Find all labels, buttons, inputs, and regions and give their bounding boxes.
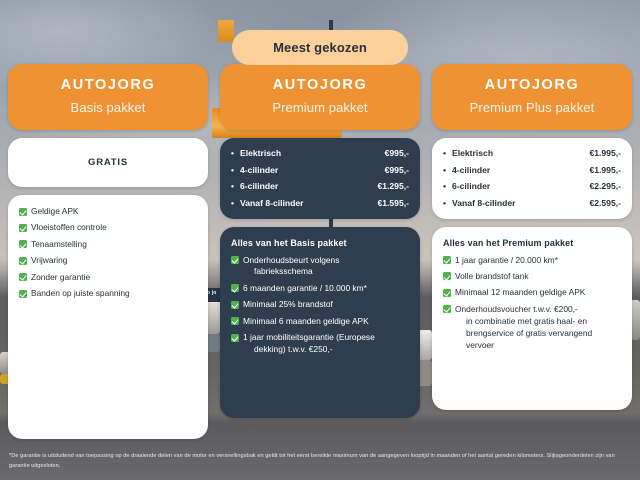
price-amount: €995,- bbox=[385, 165, 409, 175]
bullet-dot-icon: • bbox=[443, 198, 452, 208]
plan-price-list-premium-plus: • Elektrisch €1.995,- • 4-cilinder €1.99… bbox=[432, 138, 632, 219]
feature-item: 1 jaar garantie / 20.000 km* bbox=[443, 255, 621, 267]
plan-header-premium: AUTOJORG Premium pakket bbox=[220, 64, 420, 130]
bullet-dot-icon: • bbox=[443, 148, 452, 158]
price-row: • Vanaf 8-cilinder €1.595,- bbox=[231, 198, 409, 208]
feature-item: 6 maanden garantie / 10.000 km* bbox=[231, 283, 409, 295]
check-square-icon bbox=[443, 256, 451, 264]
feature-label: Vrijwaring bbox=[31, 255, 197, 267]
feature-line-2: dekking) t.w.v. €250,- bbox=[243, 344, 409, 356]
plan-features-panel-basis: Geldige APK Vloeistoffen controle Tenaam… bbox=[8, 195, 208, 439]
check-square-icon bbox=[231, 301, 239, 309]
feature-label: Volle brandstof tank bbox=[455, 271, 621, 283]
feature-label: 1 jaar garantie / 20.000 km* bbox=[455, 255, 621, 267]
price-label: Vanaf 8-cilinder bbox=[240, 198, 377, 208]
check-square-icon bbox=[231, 317, 239, 325]
price-row: • Elektrisch €1.995,- bbox=[443, 148, 621, 158]
feature-label: Minimaal 12 maanden geldige APK bbox=[455, 287, 621, 299]
price-amount: €2.595,- bbox=[567, 198, 621, 208]
plan-price-panel-premium-plus: • Elektrisch €1.995,- • 4-cilinder €1.99… bbox=[432, 138, 632, 219]
bullet-dot-icon: • bbox=[231, 181, 240, 191]
price-amount: €995,- bbox=[385, 148, 409, 158]
check-square-icon bbox=[19, 208, 27, 216]
feature-item: Onderhoudsbeurt volgens fabrieksschema bbox=[231, 255, 409, 279]
check-square-icon bbox=[443, 289, 451, 297]
bullet-dot-icon: • bbox=[443, 165, 452, 175]
price-label: Elektrisch bbox=[240, 148, 385, 158]
feature-label: Tenaamstelling bbox=[31, 239, 197, 251]
feature-item: 1 jaar mobiliteitsgarantie (Europese dek… bbox=[231, 332, 409, 356]
price-label: 6-cilinder bbox=[452, 181, 567, 191]
price-amount: €2.295,- bbox=[567, 181, 621, 191]
feature-label: Zonder garantie bbox=[31, 272, 197, 284]
feature-item: Minimaal 25% brandstof bbox=[231, 299, 409, 311]
feature-line-4: vervoer bbox=[455, 340, 621, 352]
plan-card-premium-plus[interactable]: AUTOJORG Premium Plus pakket • Elektrisc… bbox=[432, 64, 632, 410]
check-square-icon bbox=[19, 240, 27, 248]
feature-item: Volle brandstof tank bbox=[443, 271, 621, 283]
price-row: • 6-cilinder €2.295,- bbox=[443, 181, 621, 191]
price-label: Elektrisch bbox=[452, 148, 567, 158]
feature-label: Minimaal 6 maanden geldige APK bbox=[243, 316, 409, 328]
feature-label: Onderhoudsvoucher t.w.v. €200,- in combi… bbox=[455, 304, 621, 352]
price-row: • Vanaf 8-cilinder €2.595,- bbox=[443, 198, 621, 208]
price-label: Vanaf 8-cilinder bbox=[452, 198, 567, 208]
plan-features-basis: Geldige APK Vloeistoffen controle Tenaam… bbox=[8, 195, 208, 319]
feature-item: Onderhoudsvoucher t.w.v. €200,- in combi… bbox=[443, 304, 621, 352]
feature-line-1: Onderhoudsbeurt volgens bbox=[243, 255, 339, 265]
price-row: • 4-cilinder €1.995,- bbox=[443, 165, 621, 175]
check-square-icon bbox=[443, 305, 451, 313]
feature-label: Vloeistoffen controle bbox=[31, 222, 197, 234]
price-amount: €1.595,- bbox=[377, 198, 409, 208]
plan-features-premium: Alles van het Basis pakket Onderhoudsbeu… bbox=[220, 227, 420, 375]
feature-line-1: 1 jaar mobiliteitsgarantie (Europese bbox=[243, 332, 375, 342]
feature-line-2: in combinatie met gratis haal- en bbox=[455, 316, 621, 328]
check-square-icon bbox=[231, 256, 239, 264]
plan-name-premium: Premium pakket bbox=[230, 100, 410, 115]
plan-name-premium-plus: Premium Plus pakket bbox=[442, 100, 622, 115]
bullet-dot-icon: • bbox=[231, 198, 240, 208]
price-amount: €1.995,- bbox=[567, 165, 621, 175]
feature-item: Vloeistoffen controle bbox=[19, 222, 197, 234]
feature-item: Zonder garantie bbox=[19, 272, 197, 284]
warranty-footnote: *De garantie is uitsluitend van toepassi… bbox=[0, 445, 640, 480]
feature-label: 6 maanden garantie / 10.000 km* bbox=[243, 283, 409, 295]
feature-item: Vrijwaring bbox=[19, 255, 197, 267]
price-row: • 4-cilinder €995,- bbox=[231, 165, 409, 175]
price-row: • Elektrisch €995,- bbox=[231, 148, 409, 158]
price-label: 4-cilinder bbox=[240, 165, 385, 175]
check-square-icon bbox=[231, 284, 239, 292]
check-square-icon bbox=[19, 273, 27, 281]
plan-price-panel-basis: GRATIS bbox=[8, 138, 208, 187]
feature-label: Geldige APK bbox=[31, 206, 197, 218]
most-chosen-badge-label: Meest gekozen bbox=[273, 40, 367, 55]
plan-features-premium-plus: Alles van het Premium pakket 1 jaar gara… bbox=[432, 227, 632, 370]
feature-line-1: Onderhoudsvoucher t.w.v. €200,- bbox=[455, 304, 578, 314]
price-amount: €1.995,- bbox=[567, 148, 621, 158]
plan-card-premium[interactable]: AUTOJORG Premium pakket • Elektrisch €99… bbox=[220, 64, 420, 418]
most-chosen-badge: Meest gekozen bbox=[232, 30, 408, 65]
check-square-icon bbox=[19, 290, 27, 298]
feature-item: Geldige APK bbox=[19, 206, 197, 218]
price-amount: €1.295,- bbox=[377, 181, 409, 191]
plan-name-basis: Basis pakket bbox=[18, 100, 198, 115]
check-square-icon bbox=[231, 334, 239, 342]
bullet-dot-icon: • bbox=[231, 148, 240, 158]
plan-brand-basis: AUTOJORG bbox=[18, 77, 198, 93]
feature-item: Minimaal 6 maanden geldige APK bbox=[231, 316, 409, 328]
price-row: • 6-cilinder €1.295,- bbox=[231, 181, 409, 191]
check-square-icon bbox=[443, 272, 451, 280]
feature-item: Tenaamstelling bbox=[19, 239, 197, 251]
plan-features-panel-premium: Alles van het Basis pakket Onderhoudsbeu… bbox=[220, 227, 420, 419]
plan-header-premium-plus: AUTOJORG Premium Plus pakket bbox=[432, 64, 632, 130]
plan-header-basis: AUTOJORG Basis pakket bbox=[8, 64, 208, 130]
plan-price-list-premium: • Elektrisch €995,- • 4-cilinder €995,- … bbox=[220, 138, 420, 219]
check-square-icon bbox=[19, 224, 27, 232]
bullet-dot-icon: • bbox=[443, 181, 452, 191]
plan-features-panel-premium-plus: Alles van het Premium pakket 1 jaar gara… bbox=[432, 227, 632, 410]
feature-line-2: fabrieksschema bbox=[243, 266, 409, 278]
features-title: Alles van het Premium pakket bbox=[443, 238, 621, 248]
pricing-table: Meest gekozen AUTOJORG Basis pakket GRAT… bbox=[0, 0, 640, 480]
plan-price-panel-premium: • Elektrisch €995,- • 4-cilinder €995,- … bbox=[220, 138, 420, 219]
price-label: 6-cilinder bbox=[240, 181, 377, 191]
plan-brand-premium-plus: AUTOJORG bbox=[442, 77, 622, 93]
plan-price-basis: GRATIS bbox=[8, 138, 208, 187]
feature-label: Banden op juiste spanning bbox=[31, 288, 197, 300]
plan-brand-premium: AUTOJORG bbox=[230, 77, 410, 93]
feature-item: Minimaal 12 maanden geldige APK bbox=[443, 287, 621, 299]
feature-label: Minimaal 25% brandstof bbox=[243, 299, 409, 311]
price-label: 4-cilinder bbox=[452, 165, 567, 175]
feature-label: Onderhoudsbeurt volgens fabrieksschema bbox=[243, 255, 409, 279]
check-square-icon bbox=[19, 257, 27, 265]
feature-label: 1 jaar mobiliteitsgarantie (Europese dek… bbox=[243, 332, 409, 356]
features-title: Alles van het Basis pakket bbox=[231, 238, 409, 248]
bullet-dot-icon: • bbox=[231, 165, 240, 175]
plan-card-basis[interactable]: AUTOJORG Basis pakket GRATIS Geldige APK… bbox=[8, 64, 208, 439]
feature-line-3: brengservice of gratis vervangend bbox=[455, 328, 621, 340]
feature-item: Banden op juiste spanning bbox=[19, 288, 197, 300]
